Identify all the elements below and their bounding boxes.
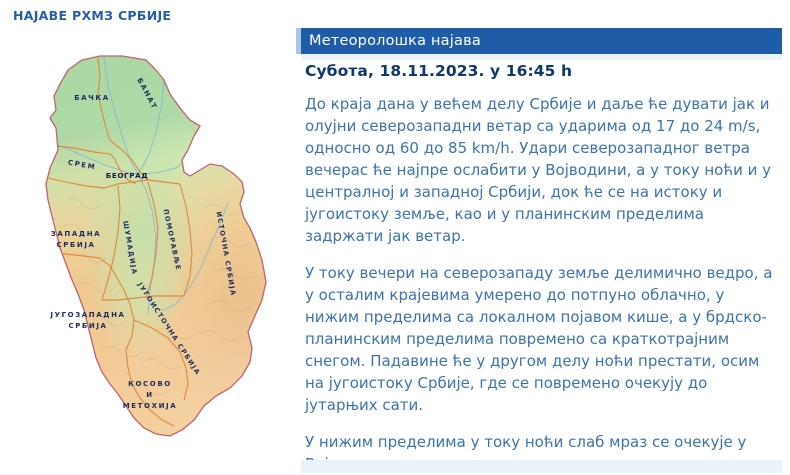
announcement-date: Субота, 18.11.2023. у 16:45 h: [305, 62, 780, 80]
page-title: НАЈАВЕ РХМЗ СРБИЈЕ: [13, 8, 171, 23]
announcement-header-title: Метеоролошка најава: [301, 33, 481, 49]
svg-text:КОСОВО: КОСОВО: [128, 380, 172, 388]
svg-text:СРБИЈА: СРБИЈА: [68, 322, 107, 330]
announcement-paragraph-2: У току вечери на северозападу земље дели…: [305, 262, 780, 416]
svg-text:МЕТОХИЈА: МЕТОХИЈА: [123, 402, 178, 410]
map-svg: БАЧКА БАНАТ СРЕМ БЕОГРАД ЗАПАДНА СРБИЈА …: [4, 32, 292, 470]
map-panel: НАЈАВЕ РХМЗ СРБИЈЕ: [0, 0, 292, 473]
announcement-content: Субота, 18.11.2023. у 16:45 h До краја д…: [305, 62, 780, 475]
svg-text:ЗАПАДНА: ЗАПАДНА: [51, 230, 101, 238]
announcement-panel: Метеоролошка најава Субота, 18.11.2023. …: [292, 0, 790, 473]
footer-strip: [301, 460, 782, 473]
header-underline-strip: [301, 54, 782, 60]
announcement-header-bar: Метеоролошка најава: [296, 28, 782, 54]
map-label-backa: БАЧКА: [74, 94, 110, 102]
serbia-region-map[interactable]: БАЧКА БАНАТ СРЕМ БЕОГРАД ЗАПАДНА СРБИЈА …: [4, 32, 292, 470]
svg-text:И: И: [146, 391, 153, 399]
announcement-paragraph-1: До краја дана у већем делу Србије и даље…: [305, 93, 780, 247]
map-label-beograd: БЕОГРАД: [106, 171, 149, 180]
svg-text:ЈУГОЗАПАДНА: ЈУГОЗАПАДНА: [49, 311, 125, 319]
svg-text:СРБИЈА: СРБИЈА: [56, 241, 95, 249]
